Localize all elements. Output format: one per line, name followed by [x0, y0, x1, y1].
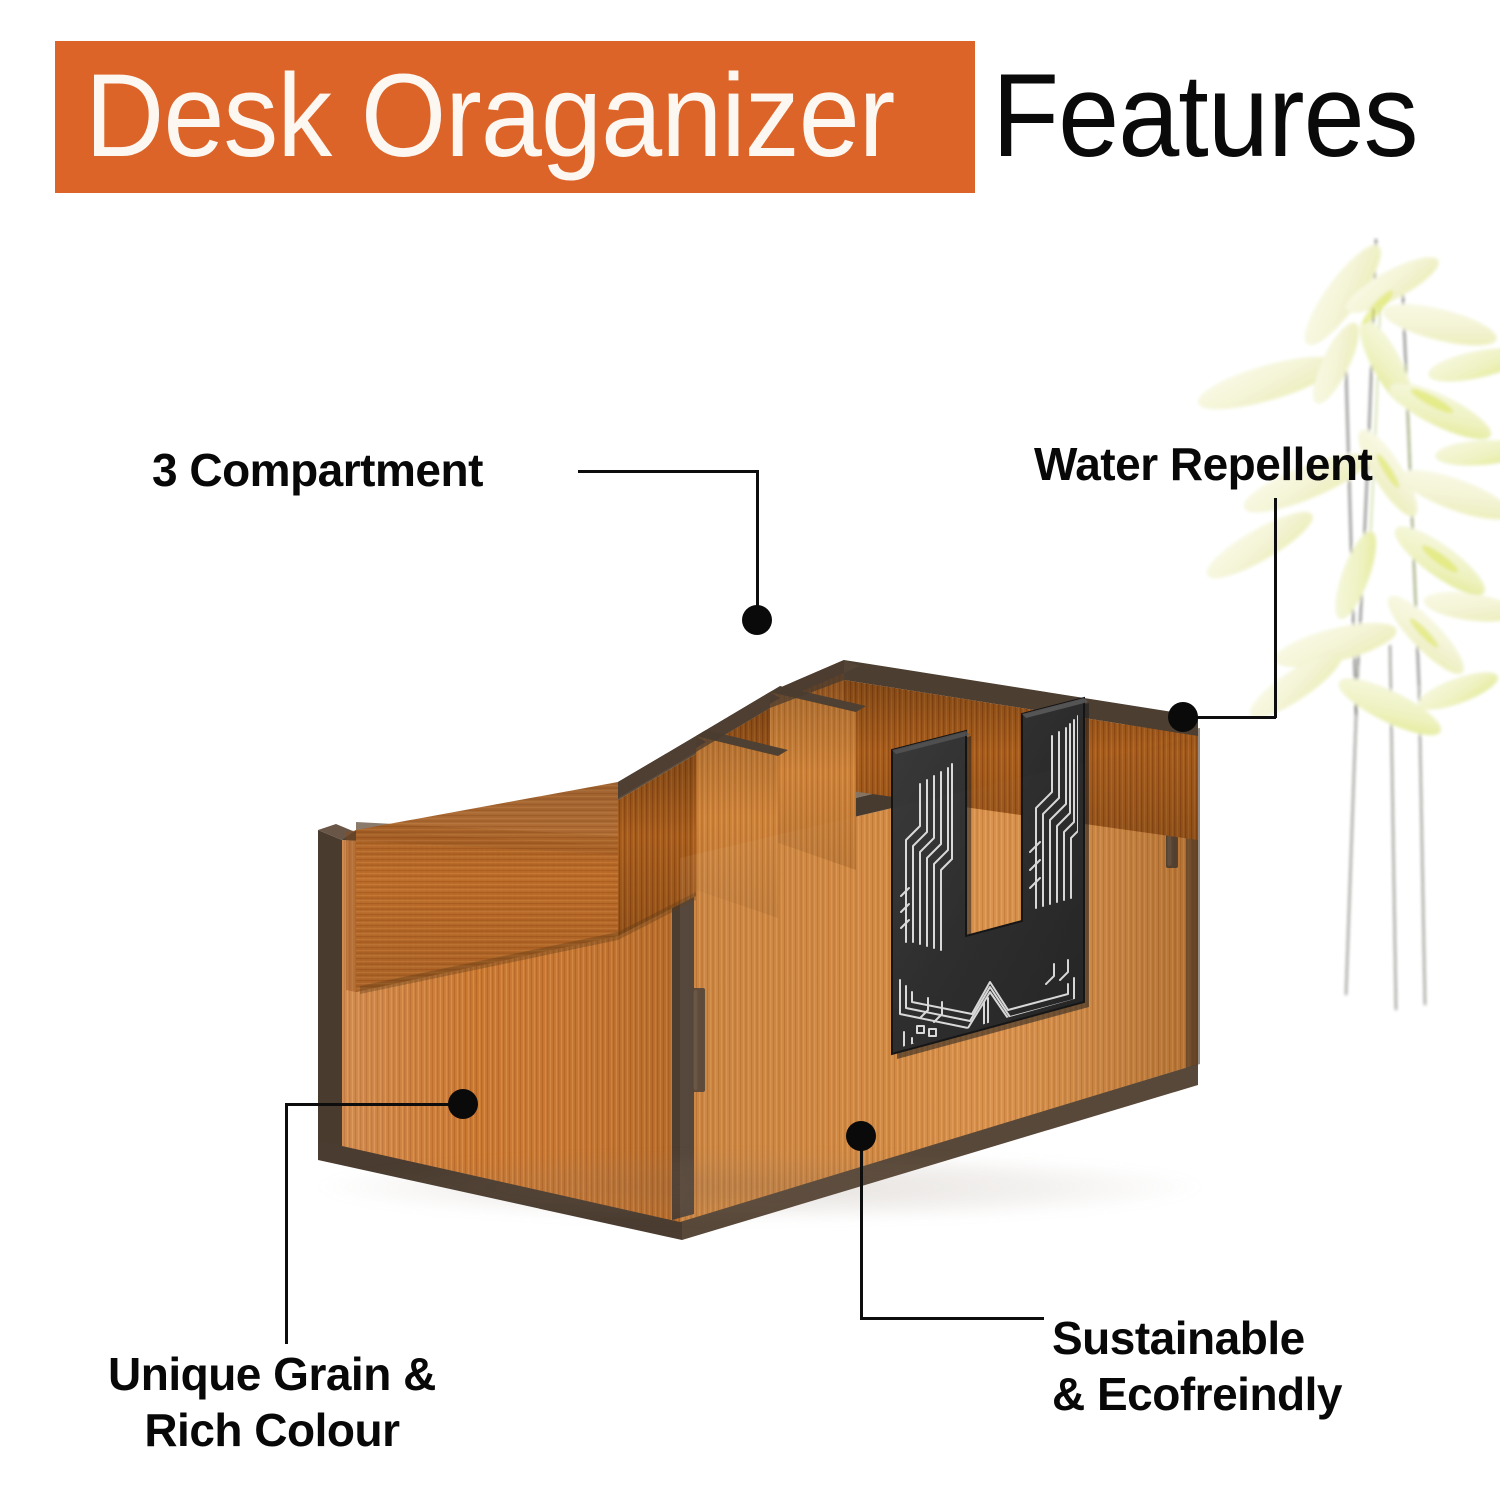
callout-dot-unique-grain[interactable]: [448, 1089, 478, 1119]
callout-line: Sustainable: [1052, 1310, 1342, 1366]
leader-line-sustain-h: [860, 1317, 1044, 1320]
leader-line-compartment-h: [578, 470, 759, 473]
callout-line: Rich Colour: [108, 1402, 436, 1458]
callout-line: & Ecofreindly: [1052, 1366, 1342, 1422]
product-image-desk-organizer: [300, 540, 1220, 1260]
leader-line-grain-v: [285, 1103, 288, 1344]
callout-label-unique-grain: Unique Grain & Rich Colour: [108, 1346, 436, 1458]
page-title-highlight: Desk Oraganizer: [85, 48, 894, 184]
leader-line-grain-h: [285, 1103, 465, 1106]
callout-dot-water-repellent[interactable]: [1168, 702, 1198, 732]
leader-line-sustain-v: [860, 1136, 863, 1318]
leader-line-water-v: [1274, 498, 1277, 718]
callout-line: Water Repellent: [1034, 436, 1372, 492]
callout-label-water-repellent: Water Repellent: [1034, 436, 1372, 492]
callout-dot-compartment[interactable]: [742, 605, 772, 635]
leader-line-compartment-v: [756, 470, 759, 622]
callout-line: 3 Compartment: [152, 442, 483, 498]
callout-label-compartment: 3 Compartment: [152, 442, 483, 498]
callout-line: Unique Grain &: [108, 1346, 436, 1402]
page-title-plain: Features: [992, 48, 1418, 184]
header: Desk Oraganizer Features: [0, 0, 1500, 220]
callout-dot-sustainable[interactable]: [846, 1121, 876, 1151]
infographic-canvas: Desk Oraganizer Features: [0, 0, 1500, 1500]
callout-label-sustainable: Sustainable & Ecofreindly: [1052, 1310, 1342, 1422]
product-shadow: [320, 1152, 1200, 1222]
